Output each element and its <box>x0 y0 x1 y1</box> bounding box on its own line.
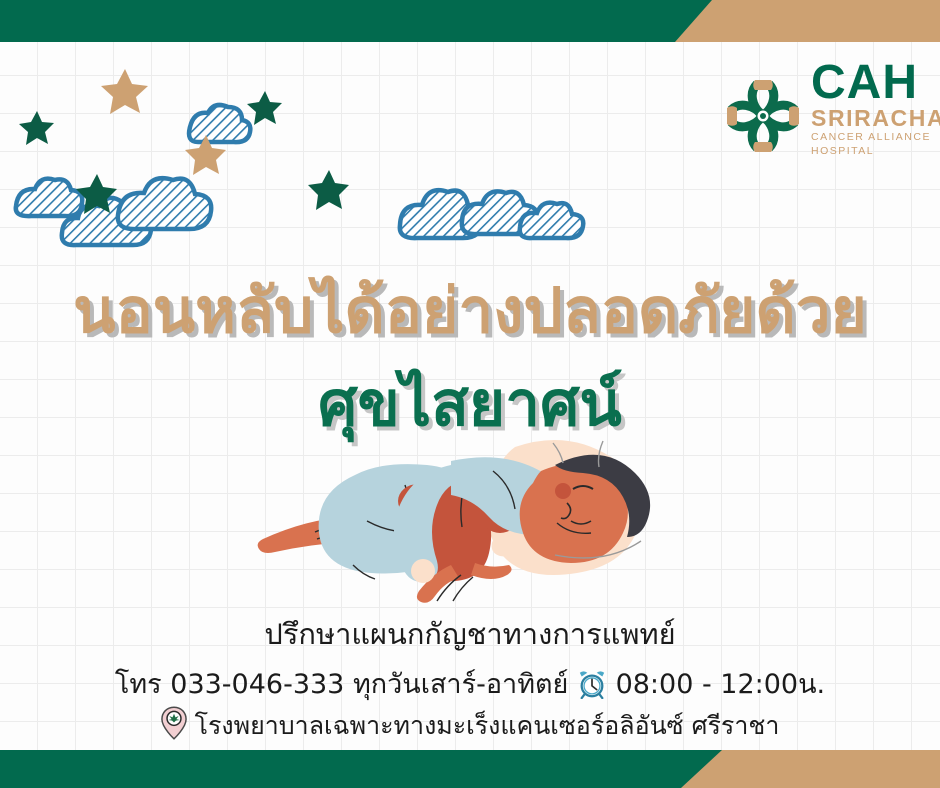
cah-logo: CAH SRIRACHA CANCER ALLIANCE HOSPITAL <box>713 60 928 172</box>
logo-cancer-alliance-text: CANCER ALLIANCE <box>811 130 931 144</box>
cah-logo-wordmark: CAH SRIRACHA CANCER ALLIANCE HOSPITAL <box>811 60 931 158</box>
consult-line: ปรึกษาแผนกกัญชาทางการแพทย์ <box>0 611 940 657</box>
bottom-banner <box>0 750 940 788</box>
person-sleeping-with-teddy-bear-illustration <box>255 425 675 615</box>
cah-pinwheel-ribbon-emblem-icon <box>713 66 813 166</box>
phone-line: โทร 033-046-333 ทุกวันเสาร์-อาทิตย์ 08:0… <box>0 662 940 706</box>
phone-number[interactable]: 033-046-333 <box>170 669 344 700</box>
star-green-1-icon <box>19 111 54 145</box>
star-green-2-icon <box>247 91 282 125</box>
logo-hospital-text: HOSPITAL <box>811 144 931 158</box>
night-sky-illustration <box>0 55 720 270</box>
cloud-small-top-icon <box>189 105 250 142</box>
service-hours: 08:00 - 12:00น. <box>616 669 826 700</box>
hand-right <box>471 563 512 579</box>
headline-line-1: นอนหลับได้อย่างปลอดภัยด้วย <box>0 262 940 360</box>
alarm-clock-icon <box>577 669 607 706</box>
top-banner <box>0 0 940 42</box>
address-line: โรงพยาบาลเฉพาะทางมะเร็งแคนเซอร์อลิอันซ์ … <box>0 706 940 746</box>
cloud-left-icon <box>16 179 82 216</box>
poster-root: CAH SRIRACHA CANCER ALLIANCE HOSPITAL <box>0 0 940 788</box>
logo-cah-text: CAH <box>811 60 931 106</box>
service-days-label: ทุกวันเสาร์-อาทิตย์ <box>353 669 568 700</box>
star-green-4-icon <box>308 170 349 210</box>
cloud-right-icon <box>400 190 583 238</box>
cheek-blush <box>555 483 571 499</box>
location-pin-cannabis-icon <box>161 706 187 746</box>
phone-prefix-label: โทร <box>115 669 162 700</box>
logo-sriracha-text: SRIRACHA <box>811 106 931 130</box>
wrist-cuff <box>411 559 435 583</box>
hospital-address-text: โรงพยาบาลเฉพาะทางมะเร็งแคนเซอร์อลิอันซ์ … <box>195 711 780 740</box>
star-tan-1-icon <box>101 69 148 114</box>
